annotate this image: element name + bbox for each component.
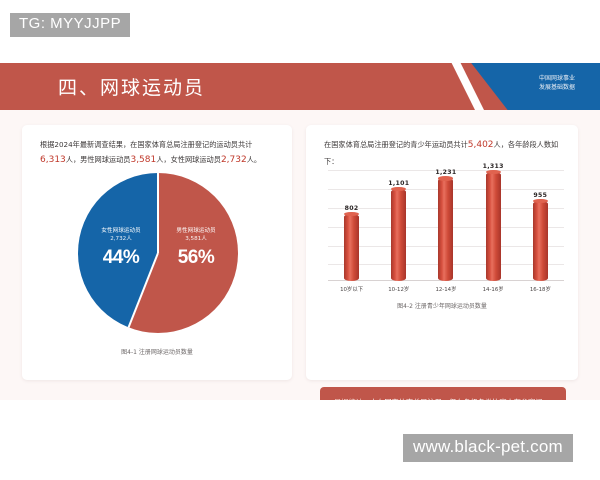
pie-label-female-count: 2,732人 — [86, 235, 156, 245]
bar-item: 802 — [333, 163, 371, 281]
pie-chart-caption: 图4-1 注册网球运动员数量 — [22, 347, 292, 356]
x-axis-label: 14-16岁 — [474, 285, 512, 293]
bar-body — [391, 189, 406, 281]
x-axis-label: 10-12岁 — [380, 285, 418, 293]
bar-value-label: 955 — [533, 192, 547, 199]
bar-chart-caption: 图4-2 注册青少年网球运动员数量 — [306, 301, 578, 310]
left-intro-mid1: 人，男性网球运动员 — [66, 155, 131, 164]
bar-value-label: 802 — [345, 205, 359, 212]
pie-label-female-percent: 44% — [86, 247, 156, 269]
bar-item: 1,313 — [474, 163, 512, 281]
bar-series: 802 1,101 1,231 — [328, 163, 564, 281]
bar-cap — [344, 212, 359, 216]
top-watermark: TG: MYYJJPP — [10, 13, 130, 37]
slide-page: TG: MYYJJPP 四、网球运动员 中国网球事业 发展基础数据 根据2024… — [0, 0, 600, 480]
pie-label-male: 男性网球运动员 3,581人 56% — [160, 227, 232, 269]
page-title: 四、网球运动员 — [58, 73, 205, 100]
bar-cylinder — [438, 178, 453, 281]
bottom-watermark: www.black-pet.com — [403, 434, 573, 462]
total-athletes-value: 6,313 — [40, 155, 66, 165]
bar-value-label: 1,101 — [388, 180, 409, 187]
bar-cylinder — [533, 201, 548, 281]
male-athletes-value: 3,581 — [130, 155, 156, 165]
bar-cap — [438, 176, 453, 180]
bar-item: 955 — [521, 163, 559, 281]
pie-label-male-title: 男性网球运动员 — [160, 227, 232, 235]
x-axis-label: 10岁以下 — [333, 285, 371, 293]
bar-body — [344, 214, 359, 281]
callout-text: 另据统计，未在国家体育总局注册，但在各级各类比赛中有参赛记录的青少年选手，共计约… — [334, 396, 546, 400]
pie-label-female: 女性网球运动员 2,732人 44% — [86, 227, 156, 269]
brand-block: 中国网球事业 发展基础数据 — [522, 75, 592, 92]
pie-divider-top — [157, 173, 159, 253]
bar-item: 1,101 — [380, 163, 418, 281]
pie-chart: 女性网球运动员 2,732人 44% 男性网球运动员 3,581人 56% — [78, 173, 238, 333]
brand-line-1: 中国网球事业 — [522, 75, 592, 84]
bar-cylinder — [391, 189, 406, 281]
bar-item: 1,231 — [427, 163, 465, 281]
callout-part2: ，未在国家体育总局注册，但在各级各类比赛中有参赛记录的青少年选手，共计约 — [334, 398, 542, 400]
brand-line-2: 发展基础数据 — [522, 84, 592, 93]
left-intro-suffix: 人。 — [247, 155, 261, 164]
callout-box: 另据统计，未在国家体育总局注册，但在各级各类比赛中有参赛记录的青少年选手，共计约… — [320, 387, 566, 400]
pie-label-female-title: 女性网球运动员 — [86, 227, 156, 235]
x-axis-label: 16-18岁 — [521, 285, 559, 293]
bar-cap — [486, 170, 501, 174]
slide-canvas: 四、网球运动员 中国网球事业 发展基础数据 根据2024年最新调查结果，在国家体… — [0, 63, 600, 400]
x-axis-label: 12-14岁 — [427, 285, 465, 293]
left-intro-text: 根据2024年最新调查结果，在国家体育总局注册登记的运动员共计6,313人，男性… — [40, 138, 276, 170]
bar-cap — [533, 199, 548, 203]
left-intro-mid2: 人，女性网球运动员 — [156, 155, 221, 164]
pie-chart-card: 根据2024年最新调查结果，在国家体育总局注册登记的运动员共计6,313人，男性… — [22, 125, 292, 380]
right-intro-prefix: 在国家体育总局注册登记的青少年运动员共计 — [324, 140, 468, 149]
bar-body — [533, 201, 548, 281]
pie-label-male-count: 3,581人 — [160, 235, 232, 245]
female-athletes-value: 2,732 — [221, 155, 247, 165]
left-intro-prefix: 根据2024年最新调查结果，在国家体育总局注册登记的运动员共计 — [40, 140, 252, 149]
header-band: 四、网球运动员 中国网球事业 发展基础数据 — [0, 63, 600, 110]
bar-body — [486, 172, 501, 281]
bar-chart: 802 1,101 1,231 — [320, 163, 566, 295]
pie-label-male-percent: 56% — [160, 247, 232, 269]
bar-cylinder — [486, 172, 501, 281]
bar-chart-card: 在国家体育总局注册登记的青少年运动员共计5,402人，各年龄段人数如下： 802 — [306, 125, 578, 380]
callout-part1: 另据统计 — [334, 398, 363, 400]
bar-chart-x-axis: 10岁以下 10-12岁 12-14岁 14-16岁 16-18岁 — [328, 283, 564, 295]
bar-value-label: 1,313 — [483, 163, 504, 170]
youth-total-value: 5,402 — [468, 140, 494, 150]
bar-cylinder — [344, 214, 359, 281]
bar-body — [438, 178, 453, 281]
